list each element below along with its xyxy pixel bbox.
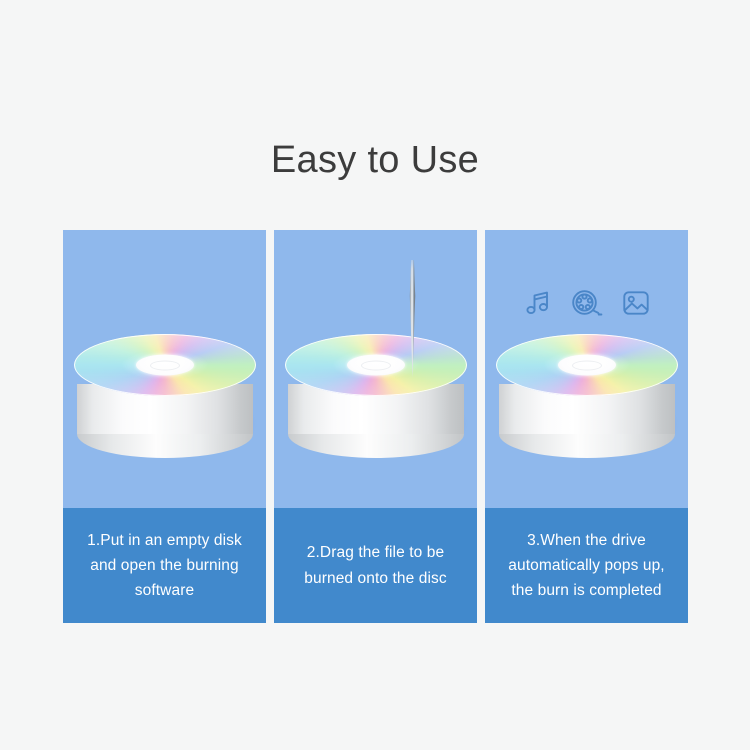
page-root: Easy to Use: [0, 0, 750, 750]
cd-disc-icon: [74, 334, 256, 396]
step-card-1[interactable]: 1.Put in an empty disk and open the burn…: [63, 230, 266, 623]
disc-hub-ring: [150, 360, 180, 370]
cd-disc-assembly: [496, 334, 678, 454]
disc-hub: [347, 355, 405, 376]
step-3-caption: 3.When the drive automatically pops up, …: [485, 508, 688, 623]
stylus-needle-icon: [408, 256, 417, 378]
step-2-caption-text: 2.Drag the file to be burned onto the di…: [288, 540, 463, 590]
steps-container: 1.Put in an empty disk and open the burn…: [63, 230, 688, 623]
step-2-illustration: [274, 230, 477, 508]
step-1-caption-text: 1.Put in an empty disk and open the burn…: [77, 528, 252, 603]
disc-hub: [136, 355, 194, 376]
cd-disc-assembly: [285, 334, 467, 454]
disc-hub-ring: [361, 360, 391, 370]
music-note-icon: [523, 288, 553, 318]
disc-hub: [558, 355, 616, 376]
media-type-icons: [485, 288, 688, 318]
disc-hub-ring: [572, 360, 602, 370]
step-card-2[interactable]: 2.Drag the file to be burned onto the di…: [274, 230, 477, 623]
image-photo-icon: [621, 288, 651, 318]
cd-disc-assembly: [74, 334, 256, 454]
step-1-illustration: [63, 230, 266, 508]
step-card-3[interactable]: 3.When the drive automatically pops up, …: [485, 230, 688, 623]
cd-disc-icon: [285, 334, 467, 396]
step-1-caption: 1.Put in an empty disk and open the burn…: [63, 508, 266, 623]
cd-disc-icon: [496, 334, 678, 396]
film-reel-icon: [571, 288, 603, 318]
step-2-caption: 2.Drag the file to be burned onto the di…: [274, 508, 477, 623]
page-title: Easy to Use: [0, 137, 750, 185]
step-3-caption-text: 3.When the drive automatically pops up, …: [499, 528, 674, 603]
step-3-illustration: [485, 230, 688, 508]
